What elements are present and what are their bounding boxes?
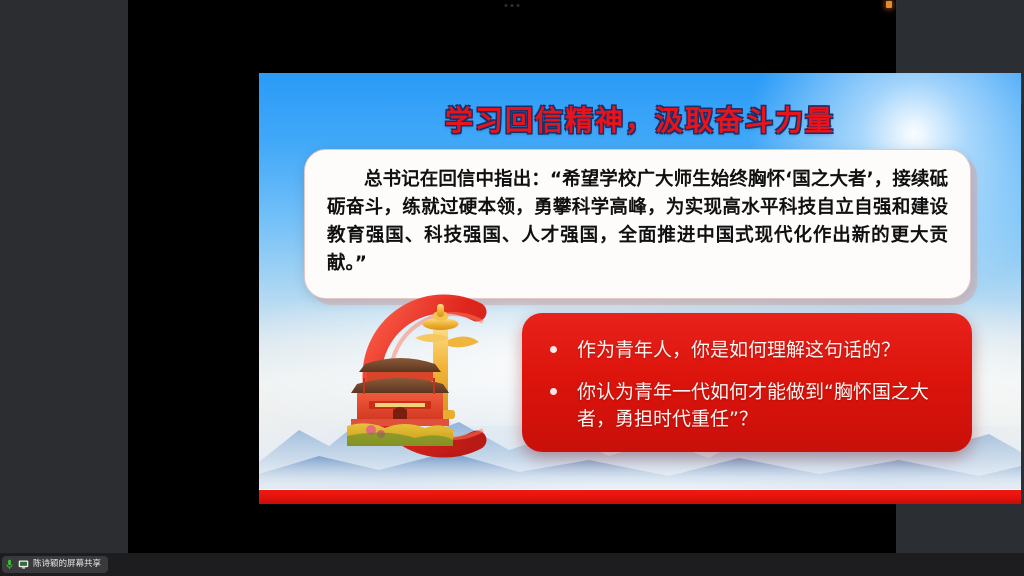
taskbar: 陈诗颖的屏幕共享 — [0, 553, 1024, 576]
question-box: 作为青年人，你是如何理解这句话的？ 你认为青年一代如何才能做到“胸怀国之大者，勇… — [522, 313, 972, 452]
question-list-item: 作为青年人，你是如何理解这句话的？ — [542, 337, 950, 365]
drag-handle-icon[interactable] — [505, 4, 520, 7]
shared-screen-stage[interactable]: 学习回信精神，汲取奋斗力量 总书记在回信中指出：“希望学校广大师生始终胸怀‘国之… — [128, 0, 896, 553]
question-list-item: 你认为青年一代如何才能做到“胸怀国之大者，勇担时代重任”？ — [542, 379, 950, 434]
handle-dot — [511, 4, 514, 7]
app-window: ‹ — [0, 0, 1024, 576]
handle-dot — [517, 4, 520, 7]
tiananmen-emblem-icon — [327, 288, 527, 463]
question-text: 作为青年人，你是如何理解这句话的？ — [577, 337, 900, 365]
screen-share-status-pill[interactable]: 陈诗颖的屏幕共享 — [2, 556, 108, 573]
handle-dot — [505, 4, 508, 7]
quote-card: 总书记在回信中指出：“希望学校广大师生始终胸怀‘国之大者’，接续砥砺奋斗，练就过… — [304, 149, 971, 299]
bullet-icon — [550, 388, 557, 395]
recording-indicator-icon — [886, 1, 892, 8]
slide-title: 学习回信精神，汲取奋斗力量 — [259, 99, 1021, 139]
monitor-icon — [18, 560, 29, 569]
microphone-icon — [5, 559, 14, 570]
presentation-slide: 学习回信精神，汲取奋斗力量 总书记在回信中指出：“希望学校广大师生始终胸怀‘国之… — [259, 73, 1021, 504]
left-rail-panel — [0, 0, 128, 553]
question-text: 你认为青年一代如何才能做到“胸怀国之大者，勇担时代重任”？ — [577, 379, 950, 434]
bullet-icon — [550, 346, 557, 353]
screen-share-label: 陈诗颖的屏幕共享 — [33, 560, 101, 569]
slide-footer-bar — [259, 489, 1021, 504]
quote-text: 总书记在回信中指出：“希望学校广大师生始终胸怀‘国之大者’，接续砥砺奋斗，练就过… — [327, 166, 948, 278]
